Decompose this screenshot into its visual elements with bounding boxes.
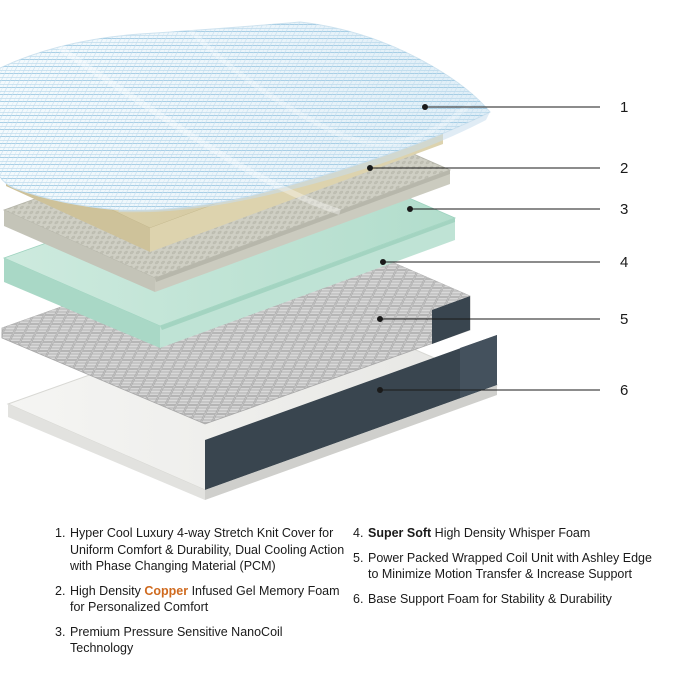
callout-number-6: 6 <box>620 382 628 399</box>
legend-item-4: 4. Super Soft High Density Whisper Foam <box>353 525 663 542</box>
legend-item-6-text: Base Support Foam for Stability & Durabi… <box>368 591 612 608</box>
callout-number-1: 1 <box>620 99 628 116</box>
legend-item-2-number: 2. <box>55 583 70 600</box>
mattress-layer-diagram: 1 2 3 4 5 6 <box>0 0 700 520</box>
callout-number-4: 4 <box>620 254 628 271</box>
callout-number-2: 2 <box>620 160 628 177</box>
legend-item-5: 5. Power Packed Wrapped Coil Unit with A… <box>353 550 663 583</box>
legend-item-5-number: 5. <box>353 550 368 567</box>
legend-item-1-number: 1. <box>55 525 70 542</box>
legend-item-3-text: Premium Pressure Sensitive NanoCoil Tech… <box>70 624 345 657</box>
legend-item-2-text: High Density Copper Infused Gel Memory F… <box>70 583 345 616</box>
legend-item-6: 6. Base Support Foam for Stability & Dur… <box>353 591 663 608</box>
legend-item-4-number: 4. <box>353 525 368 542</box>
legend-item-1-text: Hyper Cool Luxury 4-way Stretch Knit Cov… <box>70 525 345 575</box>
legend-column-left: 1. Hyper Cool Luxury 4-way Stretch Knit … <box>55 525 345 665</box>
legend-item-2: 2. High Density Copper Infused Gel Memor… <box>55 583 345 616</box>
legend: 1. Hyper Cool Luxury 4-way Stretch Knit … <box>0 520 700 700</box>
legend-item-5-text: Power Packed Wrapped Coil Unit with Ashl… <box>368 550 663 583</box>
legend-item-4-text: Super Soft High Density Whisper Foam <box>368 525 590 542</box>
legend-item-3: 3. Premium Pressure Sensitive NanoCoil T… <box>55 624 345 657</box>
legend-item-6-number: 6. <box>353 591 368 608</box>
legend-item-1: 1. Hyper Cool Luxury 4-way Stretch Knit … <box>55 525 345 575</box>
callout-number-5: 5 <box>620 311 628 328</box>
legend-item-3-number: 3. <box>55 624 70 641</box>
callout-number-3: 3 <box>620 201 628 218</box>
legend-column-right: 4. Super Soft High Density Whisper Foam … <box>345 525 663 615</box>
